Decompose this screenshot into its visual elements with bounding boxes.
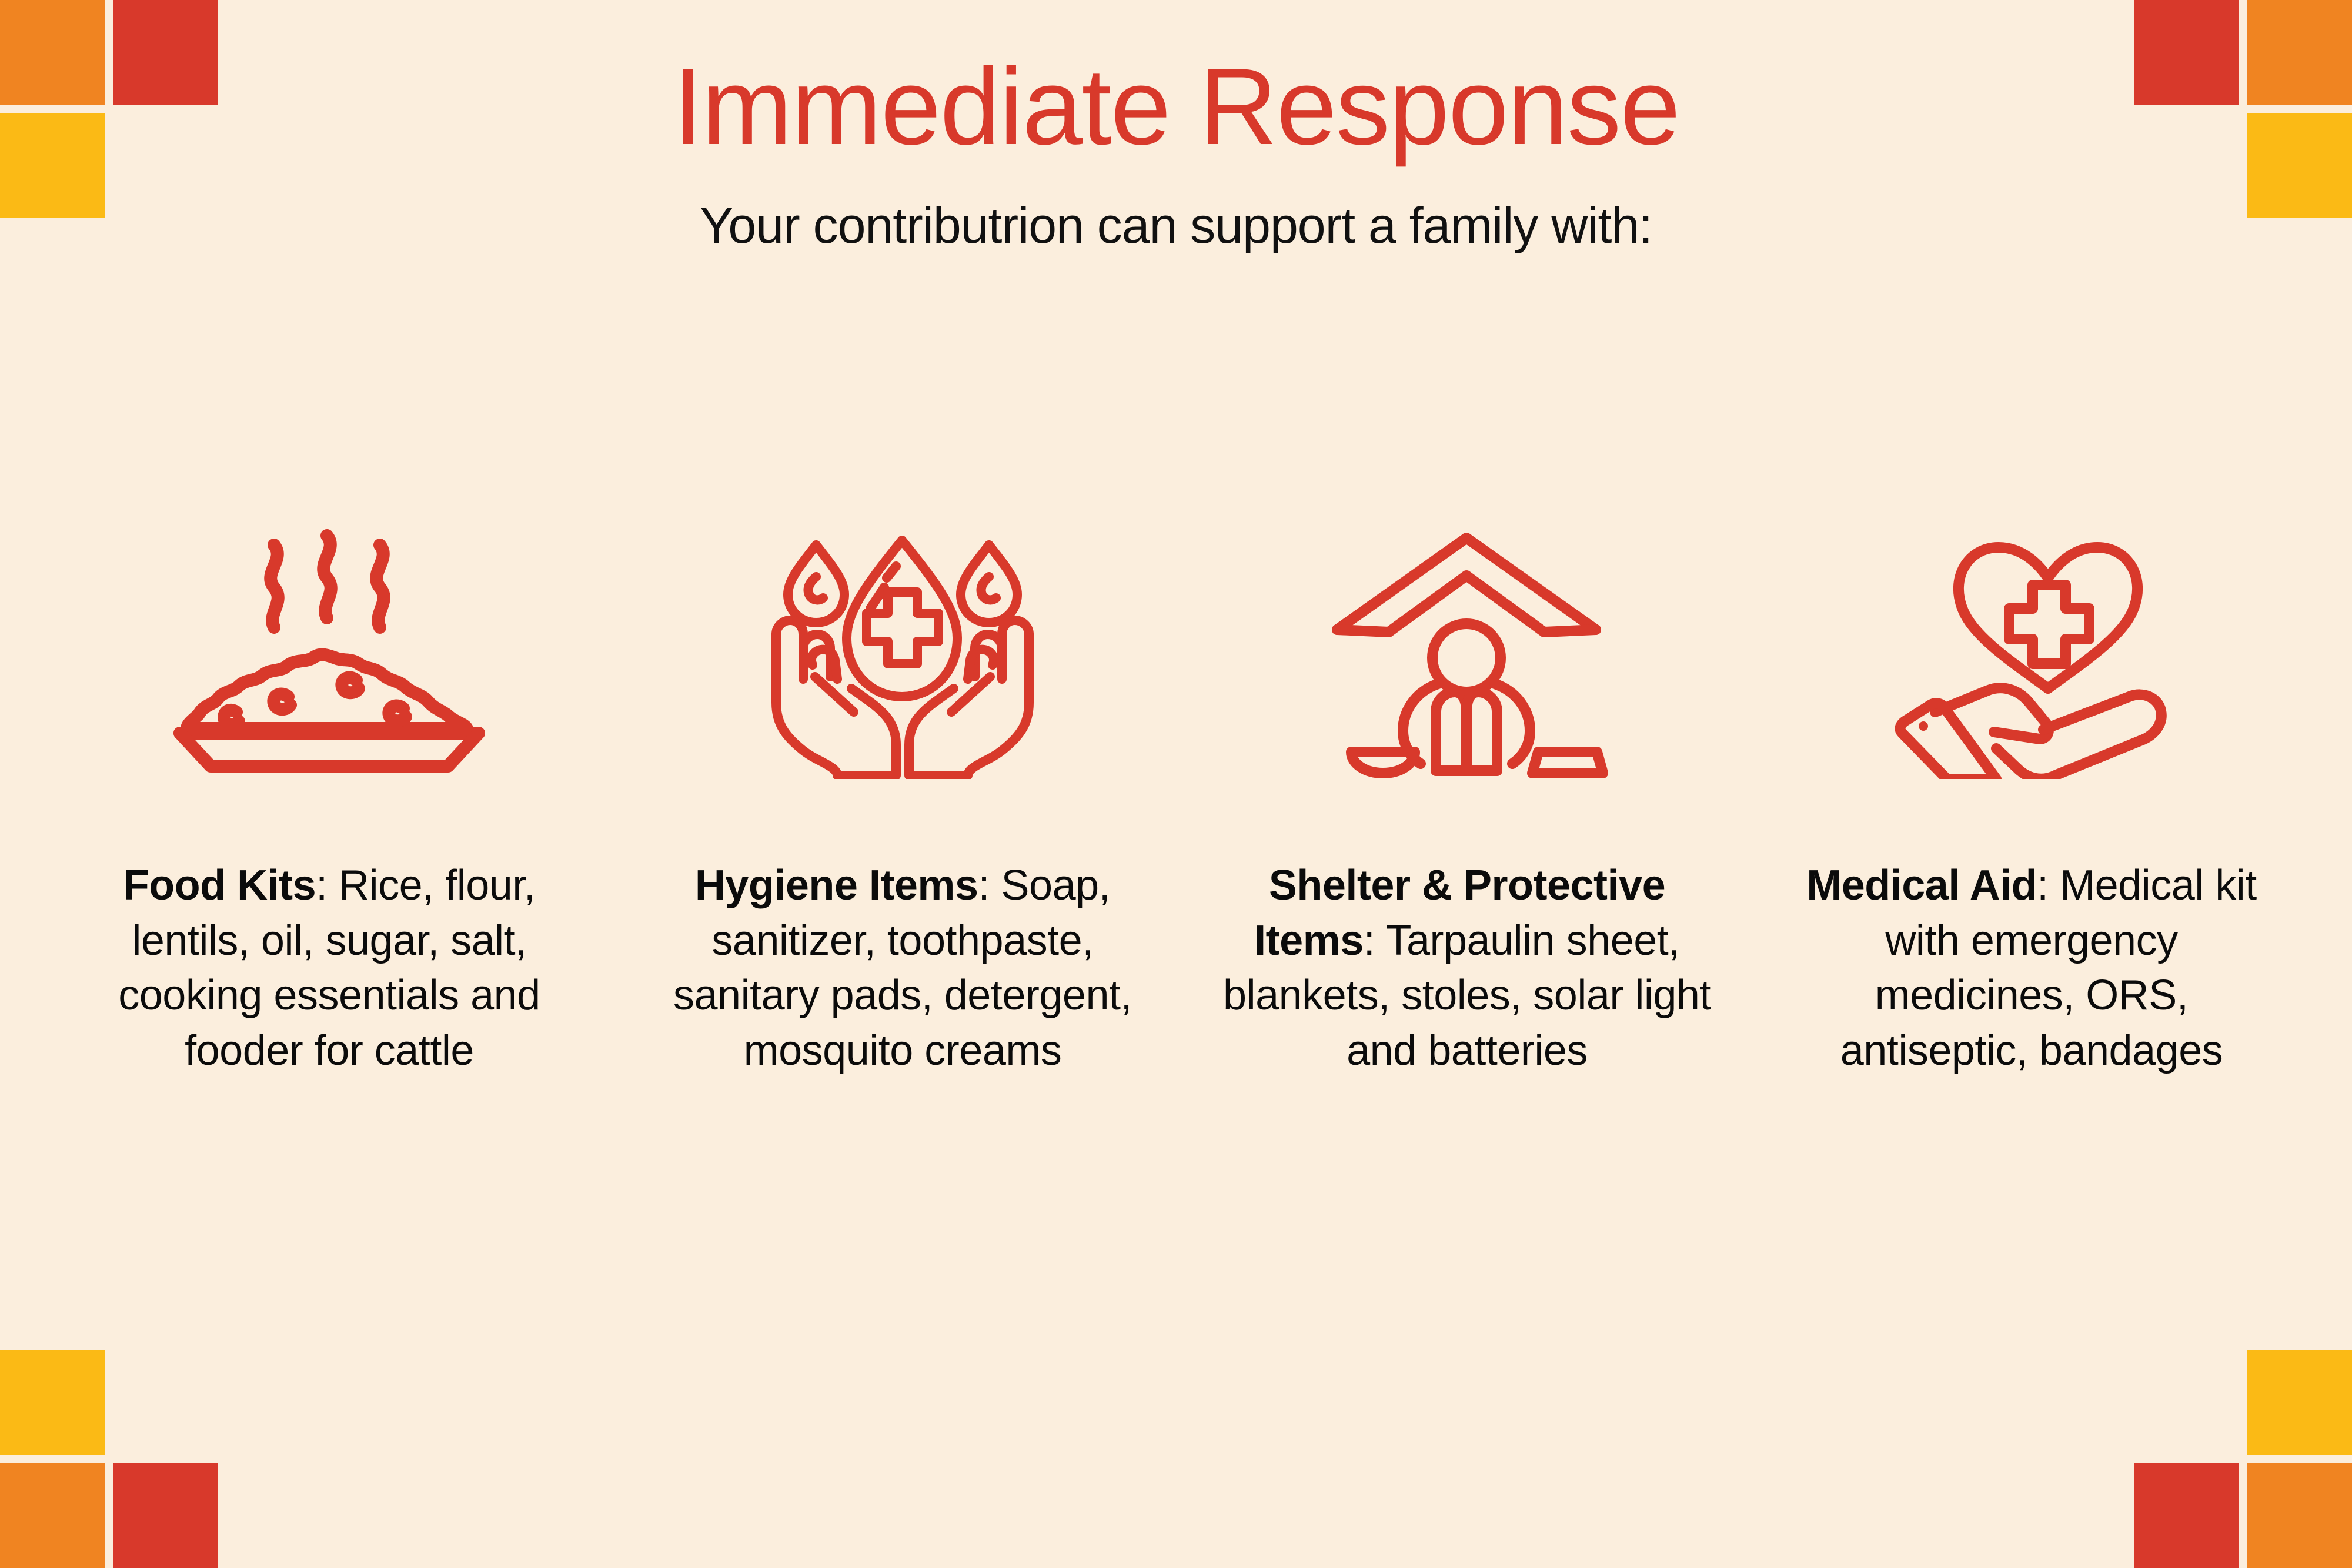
shelter-roof-person-icon <box>1323 447 1611 858</box>
corner-square-yellow <box>0 1350 105 1455</box>
hand-holding-heart-with-cross-icon <box>1879 447 2184 858</box>
support-item-description: Hygiene Items: Soap, sanitizer, toothpas… <box>653 858 1152 1078</box>
corner-decoration-bottom-right <box>2134 1350 2352 1568</box>
support-item-hygiene-items: Hygiene Items: Soap, sanitizer, toothpas… <box>653 447 1152 1078</box>
header: Immediate Response Your contributrion ca… <box>0 0 2352 254</box>
support-item-separator: : <box>2037 862 2060 909</box>
corner-square-orange <box>2247 1463 2352 1568</box>
support-item-lead: Medical Aid <box>1806 862 2037 909</box>
support-item-description: Shelter & Protective Items: Tarpaulin sh… <box>1217 858 1717 1078</box>
support-item-separator: : <box>316 862 339 909</box>
support-item-separator: : <box>978 862 1001 909</box>
support-item-food-kits: Food Kits: Rice, flour, lentils, oil, su… <box>71 447 588 1078</box>
page-subtitle: Your contributrion can support a family … <box>0 162 2352 254</box>
support-item-description: Food Kits: Rice, flour, lentils, oil, su… <box>71 858 588 1078</box>
corner-square-yellow <box>2247 1350 2352 1455</box>
page-title: Immediate Response <box>0 0 2352 162</box>
support-item-lead: Hygiene Items <box>695 862 978 909</box>
support-item-medical-aid: Medical Aid: Medical kit with emergency … <box>1782 447 2281 1078</box>
hands-holding-droplet-with-cross-icon <box>764 447 1041 858</box>
support-item-description: Medical Aid: Medical kit with emergency … <box>1782 858 2281 1078</box>
corner-decoration-bottom-left <box>0 1350 218 1568</box>
support-item-shelter-protective-items: Shelter & Protective Items: Tarpaulin sh… <box>1217 447 1717 1078</box>
corner-square-red <box>2134 1463 2239 1568</box>
hot-food-plate-icon <box>171 447 488 858</box>
corner-square-orange <box>0 1463 105 1568</box>
corner-square-red <box>113 1463 218 1568</box>
support-item-separator: : <box>1364 917 1386 964</box>
support-item-lead: Food Kits <box>123 862 316 909</box>
support-items-row: Food Kits: Rice, flour, lentils, oil, su… <box>71 447 2281 1078</box>
